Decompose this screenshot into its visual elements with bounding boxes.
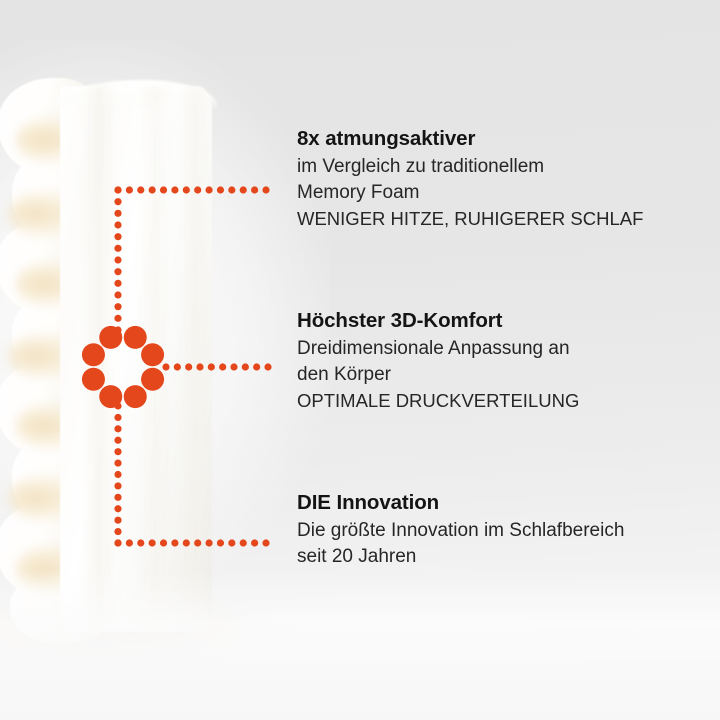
- feature-line: seit 20 Jahren: [297, 544, 624, 570]
- connector-dot: [240, 539, 247, 546]
- feature-line: den Körper: [297, 362, 579, 388]
- connector-dot: [251, 186, 258, 193]
- connector-dot: [262, 539, 269, 546]
- feature-line: Memory Foam: [297, 180, 643, 206]
- feature-line: Dreidimensionale Anpassung an: [297, 336, 579, 362]
- foam-crease: [138, 86, 172, 632]
- infographic-canvas: 8x atmungsaktiver im Vergleich zu tradit…: [0, 0, 720, 720]
- feature-heading: 8x atmungsaktiver: [297, 126, 643, 152]
- connector-dot: [242, 363, 249, 370]
- connector-dot: [253, 363, 260, 370]
- foam-crease: [178, 86, 212, 632]
- feature-caps-line: OPTIMALE DRUCKVERTEILUNG: [297, 388, 579, 414]
- feature-block-comfort: Höchster 3D-Komfort Dreidimensionale Anp…: [297, 308, 579, 414]
- feature-block-breathability: 8x atmungsaktiver im Vergleich zu tradit…: [297, 126, 643, 232]
- connector-dot: [262, 186, 269, 193]
- connector-dot: [264, 363, 271, 370]
- feature-heading: DIE Innovation: [297, 490, 624, 516]
- feature-block-innovation: DIE Innovation Die größte Innovation im …: [297, 490, 624, 570]
- foam-crease: [82, 86, 116, 632]
- connector-dot: [251, 539, 258, 546]
- feature-heading: Höchster 3D-Komfort: [297, 308, 579, 334]
- connector-dot: [240, 186, 247, 193]
- feature-caps-line: WENIGER HITZE, RUHIGERER SCHLAF: [297, 206, 643, 232]
- feature-line: im Vergleich zu traditionellem: [297, 154, 643, 180]
- feature-line: Die größte Innovation im Schlafbereich: [297, 518, 624, 544]
- foam-block-image: [0, 86, 234, 632]
